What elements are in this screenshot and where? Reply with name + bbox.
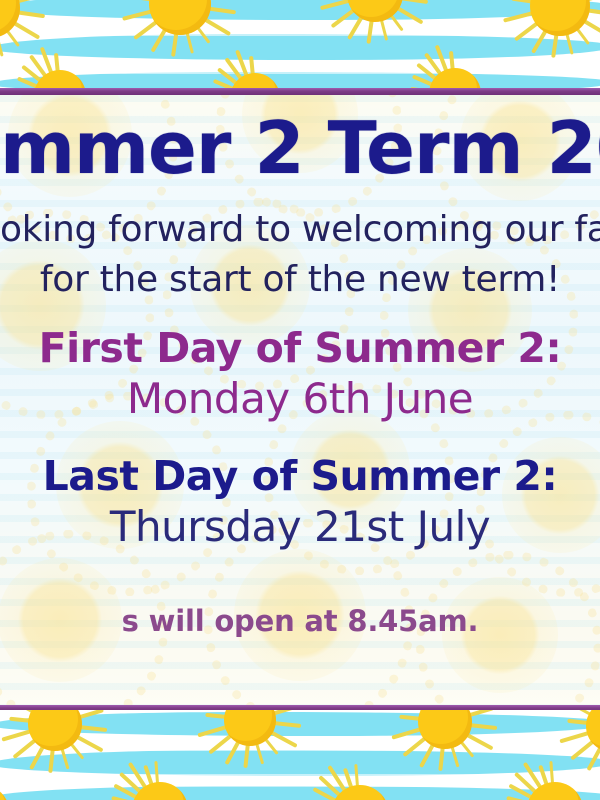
top-sun-stripe-banner <box>0 0 600 90</box>
stripe-haze <box>0 60 600 74</box>
last-day-heading: Last Day of Summer 2: <box>0 456 600 497</box>
first-day-date: Monday 6th June <box>0 378 600 420</box>
cyan-stripe <box>0 0 600 20</box>
cyan-stripe <box>0 750 600 776</box>
opening-time-note: s will open at 8.45am. <box>0 607 600 636</box>
stripe-haze <box>0 736 600 751</box>
first-day-heading: First Day of Summer 2: <box>0 328 600 369</box>
top-purple-rule <box>0 88 600 95</box>
subtitle-line-1: oking forward to welcoming our families <box>0 212 600 248</box>
cyan-stripe <box>0 712 600 736</box>
cyan-stripe <box>0 786 600 800</box>
term-dates-poster: mmer 2 Term 20 oking forward to welcomin… <box>0 0 600 800</box>
stripe-haze <box>0 20 600 36</box>
cyan-stripe <box>0 34 600 60</box>
last-day-date: Thursday 21st July <box>0 506 600 548</box>
bottom-sun-stripe-banner <box>0 710 600 800</box>
top-stripe-group <box>0 0 600 90</box>
stripe-haze <box>0 774 600 787</box>
poster-content-area: mmer 2 Term 20 oking forward to welcomin… <box>0 95 600 705</box>
page-title: mmer 2 Term 20 <box>0 112 600 184</box>
subtitle-line-2: for the start of the new term! <box>0 262 600 298</box>
